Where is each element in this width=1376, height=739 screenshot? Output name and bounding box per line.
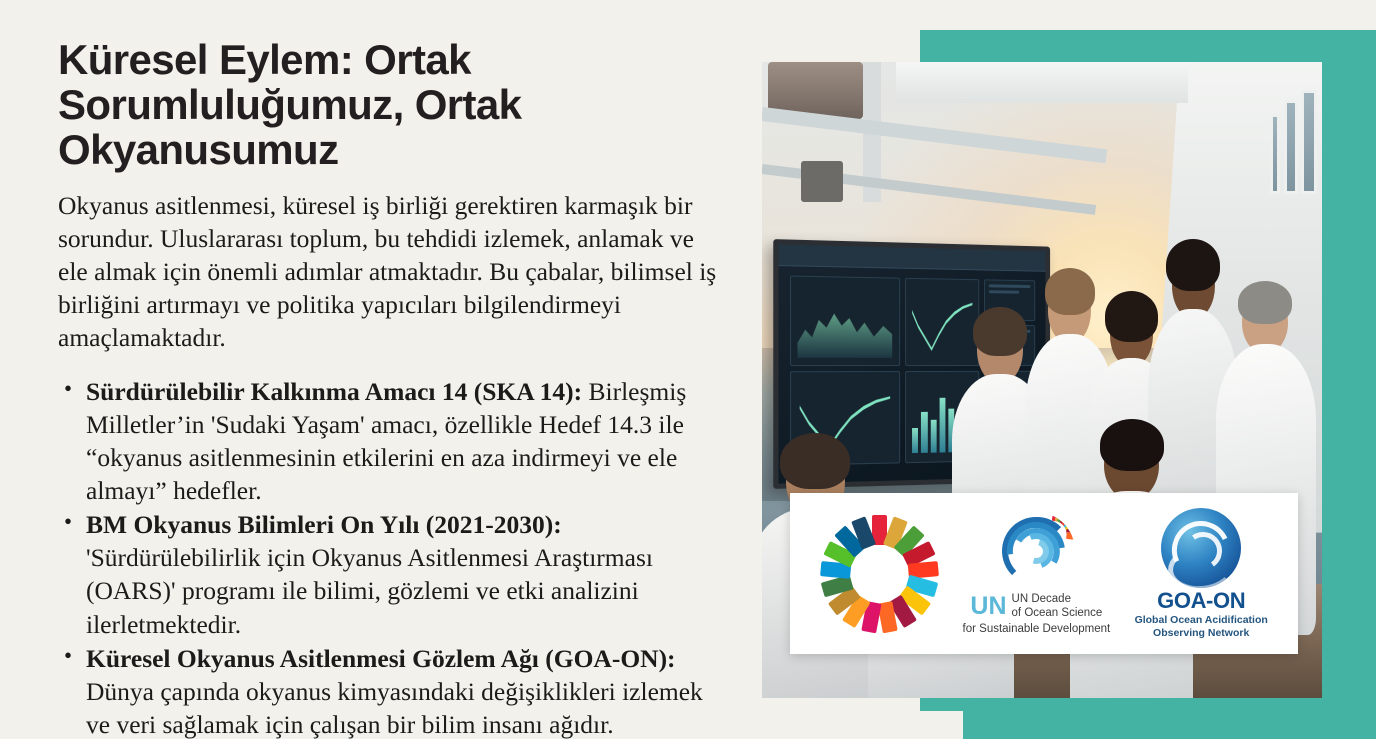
un-ocean-spiral-icon <box>997 512 1075 590</box>
list-item-lead: Sürdürülebilir Kalkınma Amacı 14 (SKA 14… <box>86 377 582 406</box>
goa-on-logo: GOA-ON Global Ocean Acidification Observ… <box>1135 508 1268 639</box>
un-decade-wordmark: UN UN Decade of Ocean Science <box>970 593 1102 620</box>
goa-on-sub-line1: Global Ocean Acidification <box>1135 614 1268 626</box>
ship-window <box>1284 100 1298 194</box>
figure-hair <box>1238 281 1292 324</box>
deck-floodlight <box>801 161 843 202</box>
figure-hair <box>973 307 1026 356</box>
ship-window <box>1301 90 1317 194</box>
list-item: Sürdürülebilir Kalkınma Amacı 14 (SKA 14… <box>58 375 730 508</box>
dashboard-area-chart <box>790 276 900 367</box>
un-spiral-sdg-ticks <box>1033 514 1073 554</box>
un-decade-lines: UN Decade of Ocean Science <box>1012 593 1103 620</box>
un-decade-line2: of Ocean Science <box>1012 607 1103 619</box>
ship-window <box>1270 114 1280 194</box>
list-item-lead: BM Okyanus Bilimleri On Yılı (2021-2030)… <box>86 510 562 539</box>
list-item: BM Okyanus Bilimleri On Yılı (2021-2030)… <box>58 508 730 641</box>
deck-canopy <box>896 62 1187 103</box>
partner-logo-panel: UN UN Decade of Ocean Science for Sustai… <box>790 493 1298 654</box>
intro-paragraph: Okyanus asitlenmesi, küresel iş birliği … <box>58 189 730 355</box>
sdg-logo <box>820 515 938 633</box>
figure-hair <box>1166 239 1220 291</box>
un-decade-line1: UN Decade <box>1012 593 1071 605</box>
figure-hair <box>780 433 850 489</box>
dashboard-toolbar <box>779 245 1046 272</box>
list-item-body: 'Sürdürülebilirlik için Okyanus Asitlenm… <box>86 543 653 638</box>
list-item-body: Dünya çapında okyanus kimyasındaki değiş… <box>86 677 703 739</box>
list-item: Küresel Okyanus Asitlenmesi Gözlem Ağı (… <box>58 642 730 739</box>
goa-on-sub-line2: Observing Network <box>1153 627 1249 639</box>
teal-accent-block-bottom <box>963 698 1376 739</box>
sdg-color-wheel-icon <box>820 515 938 633</box>
teal-top-notch <box>920 0 1376 30</box>
goa-on-wave-icon <box>1161 508 1241 588</box>
un-decade-logo: UN UN Decade of Ocean Science for Sustai… <box>963 512 1111 635</box>
figure-hair <box>1100 419 1164 471</box>
bullet-list: Sürdürülebilir Kalkınma Amacı 14 (SKA 14… <box>58 375 730 739</box>
goa-on-subtitle: Global Ocean Acidification Observing Net… <box>1135 614 1268 639</box>
page-title: Küresel Eylem: Ortak Sorumluluğumuz, Ort… <box>58 38 730 173</box>
text-column: Küresel Eylem: Ortak Sorumluluğumuz, Ort… <box>58 38 730 739</box>
goa-on-title: GOA-ON <box>1157 590 1245 612</box>
un-mark-text: UN <box>970 595 1006 619</box>
un-decade-line3: for Sustainable Development <box>963 623 1111 635</box>
list-item-lead: Küresel Okyanus Asitlenmesi Gözlem Ağı (… <box>86 644 676 673</box>
slide-canvas: Küresel Eylem: Ortak Sorumluluğumuz, Ort… <box>0 0 1376 739</box>
